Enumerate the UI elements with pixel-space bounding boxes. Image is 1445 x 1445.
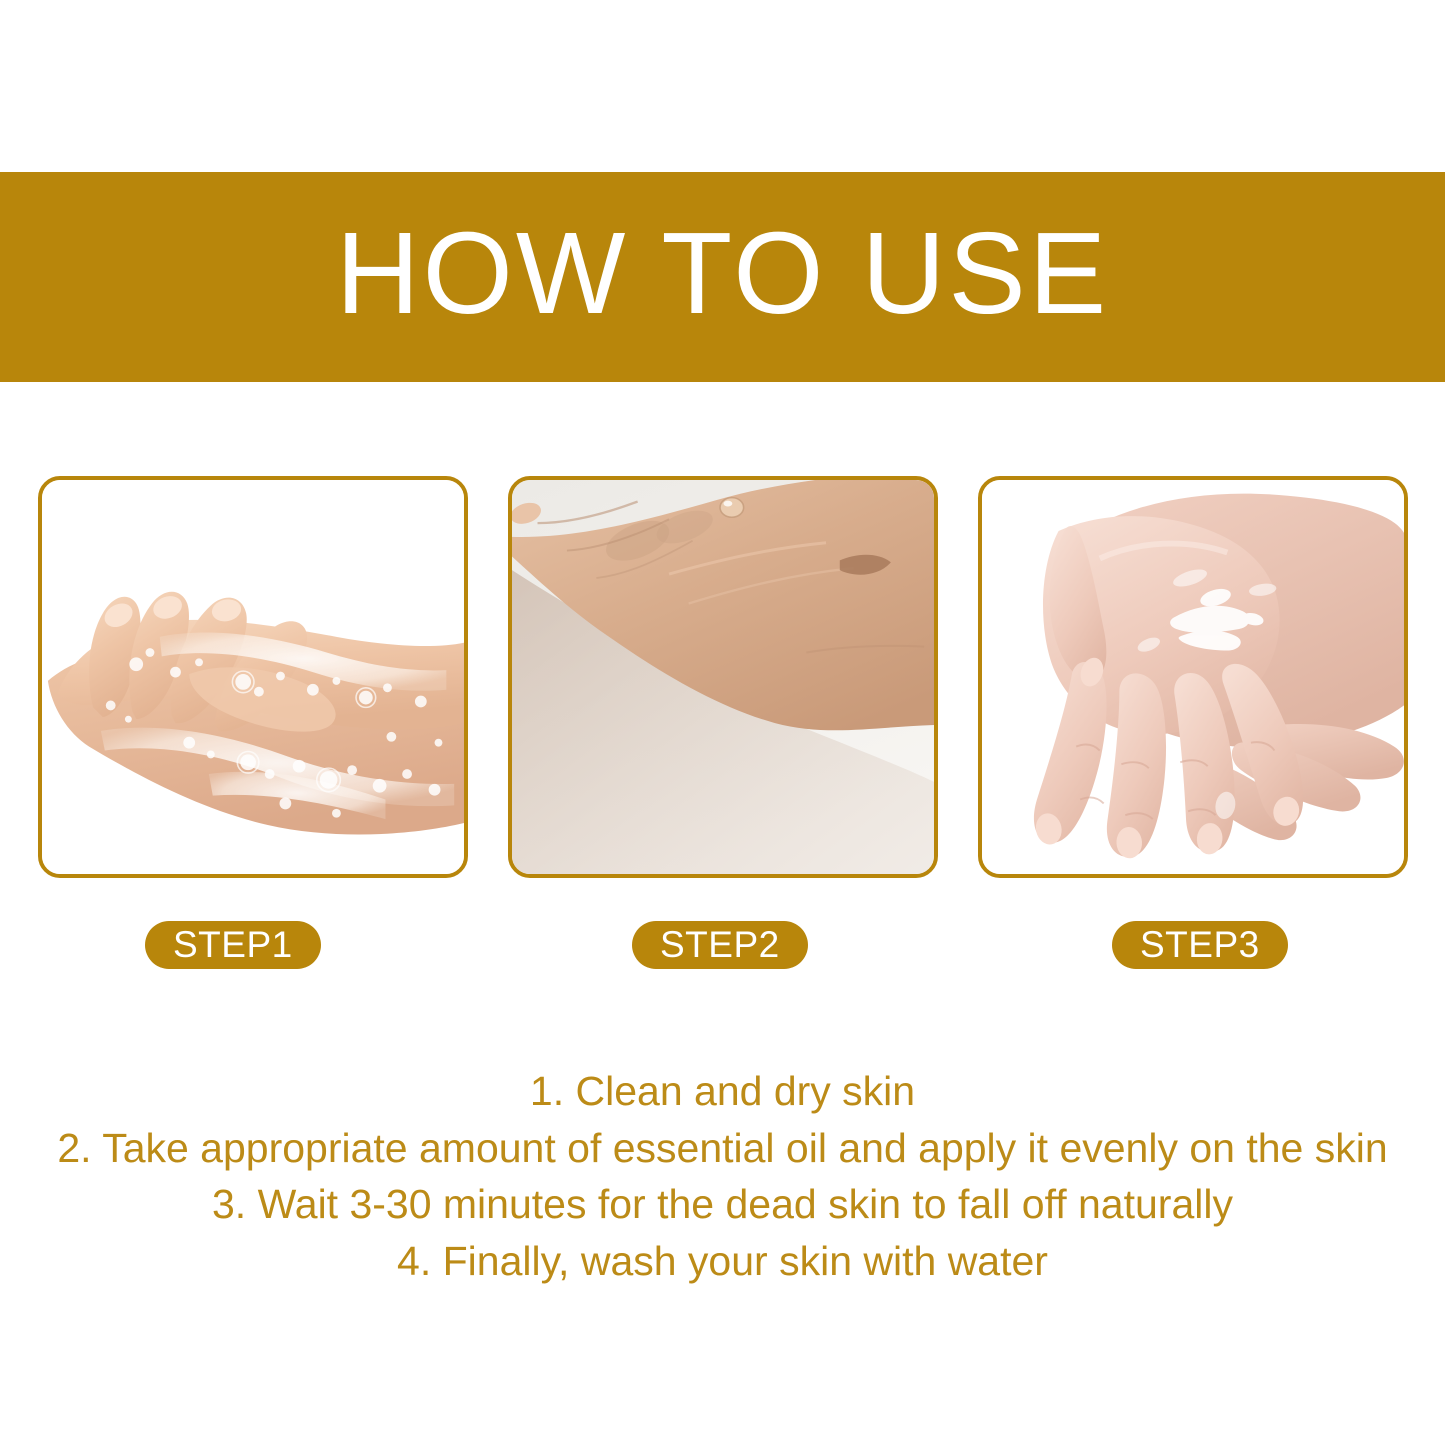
hands-applying-cream-photo <box>982 480 1404 874</box>
soapy-hands-washing-photo <box>42 480 464 874</box>
step-panel-3 <box>978 476 1408 878</box>
instruction-line-2: 2. Take appropriate amount of essential … <box>0 1120 1445 1177</box>
step-panel-2 <box>508 476 938 878</box>
step-badge-2: STEP2 <box>632 921 808 969</box>
instruction-line-3: 3. Wait 3-30 minutes for the dead skin t… <box>0 1176 1445 1233</box>
instructions-block: 1. Clean and dry skin 2. Take appropriat… <box>0 1063 1445 1289</box>
instruction-line-1: 1. Clean and dry skin <box>0 1063 1445 1120</box>
instruction-line-4: 4. Finally, wash your skin with water <box>0 1233 1445 1290</box>
step-badges-row: STEP1 STEP2 STEP3 <box>0 921 1445 969</box>
page-title: HOW TO USE <box>336 215 1109 331</box>
hand-with-oil-droplet-photo <box>512 480 934 874</box>
step-badge-1: STEP1 <box>145 921 321 969</box>
step-badge-3: STEP3 <box>1112 921 1288 969</box>
step-panel-1 <box>38 476 468 878</box>
how-to-use-banner: HOW TO USE <box>0 172 1445 382</box>
step-images-row <box>0 476 1445 878</box>
